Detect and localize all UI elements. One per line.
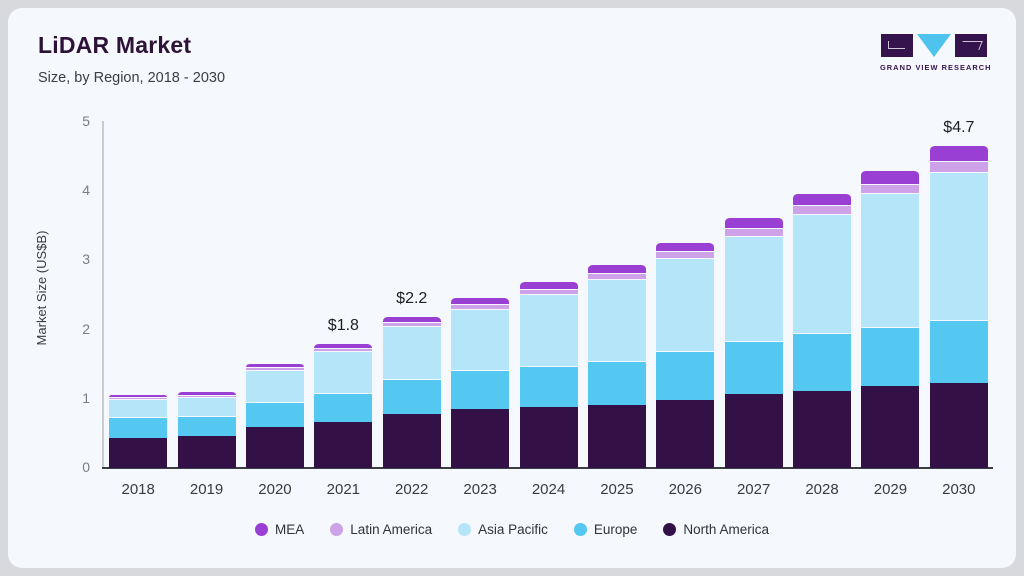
bar-segment-europe[interactable] <box>520 366 578 408</box>
bar-series-group: $1.8$2.2$4.7 <box>104 113 993 468</box>
y-tick-label: 1 <box>64 391 90 405</box>
bar-segment-mea[interactable] <box>861 170 919 184</box>
bar-column[interactable] <box>446 113 514 468</box>
bar-segment-mea[interactable] <box>656 242 714 252</box>
grand-view-research-logo: GRAND VIEW RESEARCH <box>880 34 988 74</box>
bar-segment-mea[interactable] <box>725 217 783 228</box>
chart-header: LiDAR Market Size, by Region, 2018 - 203… <box>38 30 638 88</box>
legend-label: Asia Pacific <box>478 522 548 537</box>
bar-segment-asia-pacific[interactable] <box>451 309 509 371</box>
x-tick-label: 2027 <box>720 481 788 498</box>
bar-segment-asia-pacific[interactable] <box>588 279 646 361</box>
x-tick-label: 2030 <box>925 481 993 498</box>
legend-swatch-icon <box>458 523 471 536</box>
legend-label: North America <box>683 522 769 537</box>
bar-segment-latin-america[interactable] <box>725 228 783 236</box>
legend-swatch-icon <box>330 523 343 536</box>
logo-wordmark: GRAND VIEW RESEARCH <box>880 63 988 72</box>
y-tick-label: 2 <box>64 322 90 336</box>
bar-stack[interactable] <box>793 193 851 468</box>
x-tick-label: 2019 <box>173 481 241 498</box>
bar-column[interactable] <box>583 113 651 468</box>
bar-column[interactable] <box>788 113 856 468</box>
legend-item-asia-pacific[interactable]: Asia Pacific <box>458 522 548 537</box>
bar-column[interactable]: $1.8 <box>309 113 377 468</box>
legend-item-europe[interactable]: Europe <box>574 522 638 537</box>
bar-segment-north-america[interactable] <box>930 383 988 468</box>
bar-column[interactable] <box>856 113 924 468</box>
bar-column[interactable] <box>172 113 240 468</box>
bar-stack[interactable] <box>246 363 304 468</box>
chart-subtitle: Size, by Region, 2018 - 2030 <box>38 68 638 88</box>
bar-segment-asia-pacific[interactable] <box>178 397 236 416</box>
screenshot-root: LiDAR Market Size, by Region, 2018 - 203… <box>0 0 1024 576</box>
x-tick-label: 2028 <box>788 481 856 498</box>
bar-segment-asia-pacific[interactable] <box>246 370 304 403</box>
x-tick-label: 2023 <box>446 481 514 498</box>
bar-segment-europe[interactable] <box>588 361 646 405</box>
bar-segment-asia-pacific[interactable] <box>314 351 372 393</box>
bar-segment-latin-america[interactable] <box>930 161 988 172</box>
bar-segment-north-america[interactable] <box>588 405 646 468</box>
x-tick-label: 2024 <box>515 481 583 498</box>
bar-stack[interactable] <box>588 264 646 468</box>
bar-segment-mea[interactable] <box>588 264 646 273</box>
bar-stack[interactable] <box>656 242 714 468</box>
bar-segment-asia-pacific[interactable] <box>930 172 988 320</box>
bar-column[interactable] <box>104 113 172 468</box>
bar-segment-asia-pacific[interactable] <box>109 399 167 417</box>
bar-segment-north-america[interactable] <box>178 436 236 468</box>
x-tick-label: 2025 <box>583 481 651 498</box>
legend-item-mea[interactable]: MEA <box>255 522 304 537</box>
chart-title: LiDAR Market <box>38 30 638 60</box>
x-tick-label: 2020 <box>241 481 309 498</box>
logo-square-left-icon <box>881 34 913 57</box>
bar-value-label: $1.8 <box>328 317 359 335</box>
bar-stack[interactable] <box>930 145 988 468</box>
legend-swatch-icon <box>663 523 676 536</box>
bar-segment-europe[interactable] <box>793 333 851 390</box>
bar-value-label: $4.7 <box>943 119 974 137</box>
bar-column[interactable] <box>720 113 788 468</box>
logo-marks <box>880 34 988 58</box>
plot-area: Market Size (US$B) 012345 $1.8$2.2$4.7 2… <box>38 113 993 523</box>
x-tick-label: 2026 <box>651 481 719 498</box>
bar-segment-asia-pacific[interactable] <box>793 214 851 333</box>
bar-segment-mea[interactable] <box>520 281 578 289</box>
bar-segment-europe[interactable] <box>383 379 441 414</box>
bar-segment-north-america[interactable] <box>725 394 783 468</box>
legend-swatch-icon <box>255 523 268 536</box>
bar-segment-europe[interactable] <box>930 320 988 383</box>
bar-segment-north-america[interactable] <box>451 409 509 468</box>
bar-segment-north-america[interactable] <box>246 427 304 468</box>
bar-segment-latin-america[interactable] <box>793 205 851 214</box>
bar-segment-europe[interactable] <box>861 327 919 387</box>
legend-item-north-america[interactable]: North America <box>663 522 769 537</box>
bar-stack[interactable] <box>178 391 236 468</box>
bar-stack[interactable] <box>109 394 167 468</box>
bar-column[interactable]: $2.2 <box>378 113 446 468</box>
bar-segment-latin-america[interactable] <box>861 184 919 194</box>
bar-segment-north-america[interactable] <box>314 422 372 468</box>
bar-segment-europe[interactable] <box>656 351 714 399</box>
bar-segment-north-america[interactable] <box>793 391 851 469</box>
bar-segment-asia-pacific[interactable] <box>725 236 783 341</box>
bar-segment-north-america[interactable] <box>656 400 714 469</box>
bar-segment-mea[interactable] <box>930 145 988 161</box>
bar-stack[interactable] <box>725 217 783 468</box>
bar-segment-asia-pacific[interactable] <box>656 258 714 351</box>
bar-segment-asia-pacific[interactable] <box>520 294 578 365</box>
bar-segment-europe[interactable] <box>314 393 372 423</box>
bar-column[interactable] <box>241 113 309 468</box>
legend-swatch-icon <box>574 523 587 536</box>
bar-segment-mea[interactable] <box>451 297 509 304</box>
bar-value-label: $2.2 <box>396 290 427 308</box>
bar-stack[interactable] <box>383 316 441 468</box>
logo-triangle-icon <box>917 34 951 57</box>
bar-segment-europe[interactable] <box>246 402 304 427</box>
bar-segment-europe[interactable] <box>109 417 167 438</box>
bar-segment-north-america[interactable] <box>109 438 167 468</box>
bar-stack[interactable] <box>451 297 509 468</box>
bar-stack[interactable] <box>314 343 372 468</box>
bar-segment-north-america[interactable] <box>861 386 919 468</box>
y-tick-label: 3 <box>64 252 90 266</box>
bar-segment-europe[interactable] <box>178 416 236 436</box>
bar-segment-mea[interactable] <box>793 193 851 205</box>
x-tick-label: 2022 <box>378 481 446 498</box>
bar-column[interactable] <box>651 113 719 468</box>
legend-label: MEA <box>275 522 304 537</box>
y-tick-label: 0 <box>64 460 90 474</box>
logo-square-right-icon <box>955 34 987 57</box>
bar-stack[interactable] <box>520 281 578 468</box>
bar-segment-europe[interactable] <box>451 370 509 409</box>
legend-label: Latin America <box>350 522 432 537</box>
y-tick-label: 4 <box>64 183 90 197</box>
bar-segment-asia-pacific[interactable] <box>861 193 919 327</box>
bar-segment-europe[interactable] <box>725 341 783 394</box>
y-axis-title: Market Size (US$B) <box>33 108 51 468</box>
x-tick-label: 2018 <box>104 481 172 498</box>
x-tick-label: 2021 <box>309 481 377 498</box>
y-tick-label: 5 <box>64 114 90 128</box>
bar-segment-asia-pacific[interactable] <box>383 326 441 379</box>
legend-item-latin-america[interactable]: Latin America <box>330 522 432 537</box>
chart-legend: MEALatin AmericaAsia PacificEuropeNorth … <box>8 522 1016 537</box>
x-tick-label: 2029 <box>856 481 924 498</box>
legend-label: Europe <box>594 522 638 537</box>
bar-stack[interactable] <box>861 170 919 468</box>
bar-column[interactable] <box>514 113 582 468</box>
bar-segment-north-america[interactable] <box>520 407 578 468</box>
chart-card: LiDAR Market Size, by Region, 2018 - 203… <box>8 8 1016 568</box>
bar-column[interactable]: $4.7 <box>925 113 993 468</box>
bar-segment-north-america[interactable] <box>383 414 441 468</box>
bar-segment-latin-america[interactable] <box>656 251 714 258</box>
